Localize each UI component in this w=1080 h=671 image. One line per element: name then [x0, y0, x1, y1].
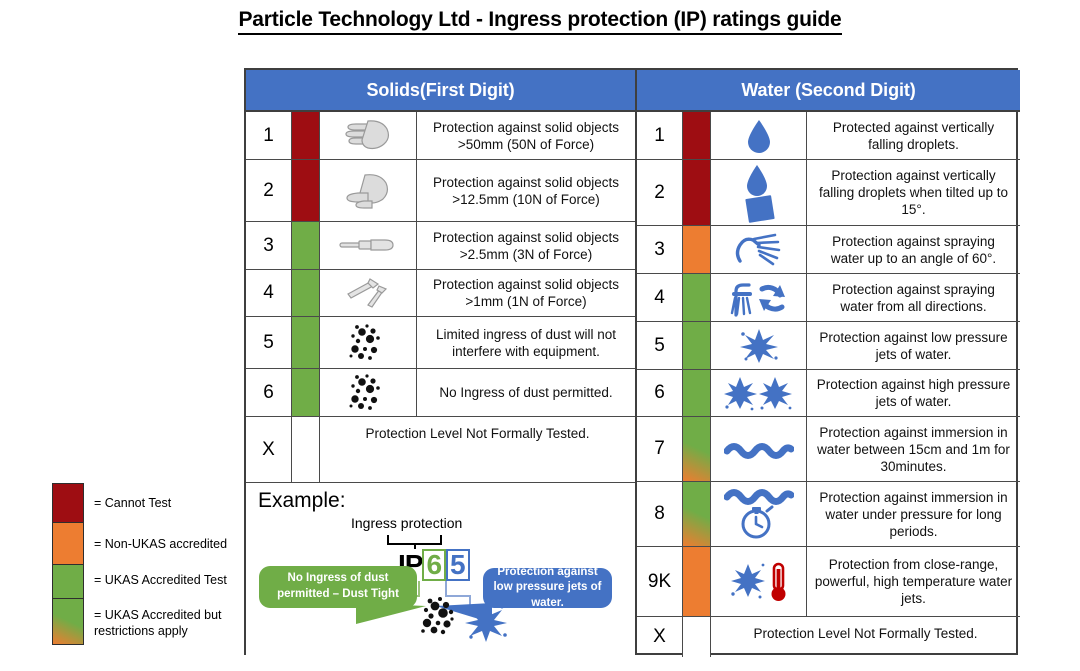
legend-swatch-green: [52, 564, 84, 599]
solids-description-cell: Protection Level Not Formally Tested.: [320, 417, 635, 482]
table-row: 5Protection against low pressure jets of…: [637, 322, 1020, 370]
screwdriver-icon: [320, 222, 417, 269]
solids-digit-cell: 3: [246, 222, 292, 269]
ip-ratings-guide-page: Particle Technology Ltd - Ingress protec…: [0, 0, 1080, 671]
legend-item: = Cannot Test: [52, 483, 242, 522]
status-swatch-cell: [683, 226, 711, 273]
status-swatch-green: [292, 369, 319, 416]
shower-all-directions-icon: [711, 274, 807, 321]
water-digit-cell: 9K: [637, 547, 683, 616]
solids-digit-cell: 4: [246, 270, 292, 316]
nails-icon: [320, 270, 417, 316]
status-swatch-cell: [683, 370, 711, 416]
status-swatch-grad: [683, 417, 710, 481]
dust-icon: [419, 595, 467, 639]
table-row: 2Protection against vertically falling d…: [637, 160, 1020, 226]
water-digit-cell: 1: [637, 112, 683, 159]
water-description-cell: Protection against high pressure jets of…: [807, 370, 1020, 416]
waves-timer-icon: [711, 482, 807, 546]
status-swatch-cell: [683, 617, 711, 657]
status-swatch-cell: [683, 274, 711, 321]
solids-column: Solids(First Digit) 1Protection against …: [246, 70, 635, 653]
legend-label: = UKAS Accredited Test: [94, 564, 227, 588]
example-label: Example:: [258, 489, 346, 513]
status-swatch-cell: [292, 317, 320, 368]
legend-swatch-orange: [52, 522, 84, 566]
status-swatch-red: [683, 160, 710, 225]
solids-description-cell: Limited ingress of dust will not interfe…: [417, 317, 635, 368]
water-description-cell: Protection Level Not Formally Tested.: [711, 617, 1020, 657]
water-description-cell: Protection against spraying water from a…: [807, 274, 1020, 321]
table-row: 3Protection against spraying water up to…: [637, 226, 1020, 274]
status-swatch-cell: [292, 112, 320, 159]
status-swatch-cell: [683, 322, 711, 369]
dust-callout-text: No Ingress of dust permitted – Dust Tigh…: [267, 571, 409, 602]
jet-thermometer-icon: [711, 547, 807, 616]
solids-digit-cell: 5: [246, 317, 292, 368]
legend-swatch-fill: [53, 565, 83, 598]
shower-spray-icon: [711, 226, 807, 273]
status-swatch-none: [683, 617, 710, 657]
table-row: 6No Ingress of dust permitted.: [246, 369, 635, 417]
brace-icon: [387, 535, 442, 545]
table-row: 1Protected against vertically falling dr…: [637, 112, 1020, 160]
legend-item: = Non-UKAS accredited: [52, 522, 242, 565]
droplet-icon: [711, 112, 807, 159]
legend-swatch-fill: [53, 523, 83, 565]
water-leader-line: [445, 581, 447, 595]
water-description-cell: Protected against vertically falling dro…: [807, 112, 1020, 159]
status-swatch-orange: [683, 547, 710, 616]
solids-description-cell: No Ingress of dust permitted.: [417, 369, 635, 416]
solids-digit-cell: 6: [246, 369, 292, 416]
status-swatch-green: [292, 317, 319, 368]
water-digit-cell: 6: [637, 370, 683, 416]
table-row: 5Limited ingress of dust will not interf…: [246, 317, 635, 369]
water-digit-cell: 8: [637, 482, 683, 546]
legend-swatch-fill: [53, 484, 83, 522]
solids-header: Solids(First Digit): [246, 70, 635, 112]
page-title: Particle Technology Ltd - Ingress protec…: [0, 8, 1080, 32]
table-row: 6Protection against high pressure jets o…: [637, 370, 1020, 417]
legend-item: = UKAS Accredited Test: [52, 564, 242, 598]
status-swatch-cell: [292, 222, 320, 269]
status-swatch-green: [292, 222, 319, 269]
status-swatch-grad: [683, 482, 710, 546]
water-jet-icon: [711, 322, 807, 369]
status-swatch-green: [683, 322, 710, 369]
legend-label: = UKAS Accredited but restrictions apply: [94, 598, 242, 640]
double-water-jet-icon: [711, 370, 807, 416]
status-swatch-cell: [683, 160, 711, 225]
water-description-cell: Protection against low pressure jets of …: [807, 322, 1020, 369]
status-swatch-cell: [683, 547, 711, 616]
ingress-protection-label: Ingress protection: [351, 515, 462, 531]
status-swatch-green: [683, 274, 710, 321]
solids-description-cell: Protection against solid objects >12.5mm…: [417, 160, 635, 221]
page-title-text: Particle Technology Ltd - Ingress protec…: [238, 8, 841, 35]
status-swatch-cell: [683, 482, 711, 546]
ip-ratings-table: Solids(First Digit) 1Protection against …: [244, 68, 1018, 655]
water-column: Water (Second Digit) 1Protected against …: [635, 70, 1020, 653]
solids-digit-cell: 1: [246, 112, 292, 159]
legend-item: = UKAS Accredited but restrictions apply: [52, 598, 242, 644]
legend-swatch-red: [52, 483, 84, 523]
table-row: 7Protection against immersion in water b…: [637, 417, 1020, 482]
example-panel: Example: Ingress protection IP65 No Ingr…: [246, 482, 635, 657]
status-swatch-red: [292, 112, 319, 159]
status-swatch-red: [683, 112, 710, 159]
legend-label: = Cannot Test: [94, 483, 171, 511]
ip-code-solid-digit: 6: [422, 549, 446, 581]
solids-digit-cell: X: [246, 417, 292, 482]
water-digit-cell: X: [637, 617, 683, 657]
table-row: XProtection Level Not Formally Tested.: [246, 417, 635, 482]
water-digit-cell: 7: [637, 417, 683, 481]
legend-label: = Non-UKAS accredited: [94, 522, 227, 552]
solids-header-label: Solids(First Digit): [366, 80, 514, 101]
water-description-cell: Protection against immersion in water be…: [807, 417, 1020, 481]
solids-description-cell: Protection against solid objects >50mm (…: [417, 112, 635, 159]
pointing-hand-icon: [320, 160, 417, 221]
table-row: 8Protection against immersion in water u…: [637, 482, 1020, 547]
solids-description-cell: Protection against solid objects >1mm (1…: [417, 270, 635, 316]
status-swatch-cell: [683, 112, 711, 159]
table-row: 4Protection against solid objects >1mm (…: [246, 270, 635, 317]
water-description-cell: Protection against spraying water up to …: [807, 226, 1020, 273]
ip-code-water-digit: 5: [446, 549, 470, 581]
water-description-cell: Protection against vertically falling dr…: [807, 160, 1020, 225]
table-row: XProtection Level Not Formally Tested.: [637, 617, 1020, 657]
solid-leader-line: [418, 581, 420, 595]
water-header-label: Water (Second Digit): [741, 80, 915, 101]
solids-description-cell: Protection against solid objects >2.5mm …: [417, 222, 635, 269]
open-hand-icon: [320, 112, 417, 159]
dust-callout: No Ingress of dust permitted – Dust Tigh…: [259, 566, 417, 608]
table-row: 3Protection against solid objects >2.5mm…: [246, 222, 635, 270]
status-swatch-cell: [292, 369, 320, 416]
water-description-cell: Protection from close-range, powerful, h…: [807, 547, 1020, 616]
table-row: 9KProtection from close-range, powerful,…: [637, 547, 1020, 617]
legend: = Cannot Test= Non-UKAS accredited= UKAS…: [52, 483, 242, 643]
water-digit-cell: 2: [637, 160, 683, 225]
water-jet-icon: [461, 601, 511, 643]
dust-icon: [320, 369, 417, 416]
status-swatch-cell: [683, 417, 711, 481]
table-row: 2Protection against solid objects >12.5m…: [246, 160, 635, 222]
droplet-tilted-box-icon: [711, 160, 807, 225]
status-swatch-orange: [683, 226, 710, 273]
water-description-cell: Protection against immersion in water un…: [807, 482, 1020, 546]
legend-swatch-grad: [52, 598, 84, 645]
status-swatch-cell: [292, 417, 320, 482]
table-row: 1Protection against solid objects >50mm …: [246, 112, 635, 160]
water-digit-cell: 5: [637, 322, 683, 369]
water-digit-cell: 4: [637, 274, 683, 321]
dust-icon: [320, 317, 417, 368]
status-swatch-red: [292, 160, 319, 221]
status-swatch-none: [292, 417, 319, 482]
solids-digit-cell: 2: [246, 160, 292, 221]
table-row: 4Protection against spraying water from …: [637, 274, 1020, 322]
legend-swatch-fill: [53, 599, 83, 644]
water-digit-cell: 3: [637, 226, 683, 273]
waves-icon: [711, 417, 807, 481]
water-header: Water (Second Digit): [637, 70, 1020, 112]
status-swatch-green: [292, 270, 319, 316]
status-swatch-cell: [292, 270, 320, 316]
status-swatch-green: [683, 370, 710, 416]
status-swatch-cell: [292, 160, 320, 221]
